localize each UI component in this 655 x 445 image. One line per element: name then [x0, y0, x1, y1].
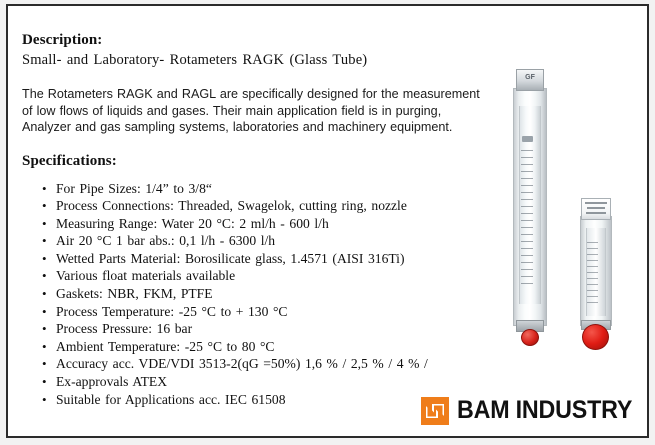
- list-item: •Wetted Parts Material: Borosilicate gla…: [56, 250, 492, 268]
- bullet-icon: •: [42, 197, 47, 215]
- brand-logo: BAM INDUSTRY: [421, 396, 645, 425]
- list-item-label: Process Pressure: 16 bar: [56, 321, 192, 336]
- list-item: •Gaskets: NBR, FKM, PTFE: [56, 285, 492, 303]
- text-column: Description: Small- and Laboratory- Rota…: [22, 32, 492, 408]
- bullet-icon: •: [42, 338, 47, 356]
- list-item-label: Various float materials available: [56, 268, 235, 283]
- bam-zigzag-icon: [421, 397, 449, 425]
- intro-line-3: Analyzer and gas sampling systems, labor…: [22, 119, 492, 136]
- rotameter-large-float: [522, 136, 533, 142]
- nameplate-line: [587, 207, 605, 209]
- list-item-label: Ambient Temperature: -25 °C to 80 °C: [56, 339, 274, 354]
- bullet-icon: •: [42, 355, 47, 373]
- list-item: •Ambient Temperature: -25 °C to 80 °C: [56, 338, 492, 356]
- nameplate-line: [586, 212, 606, 214]
- description-heading: Description:: [22, 32, 492, 49]
- list-item-label: Suitable for Applications acc. IEC 61508: [56, 392, 286, 407]
- list-item: •Process Connections: Threaded, Swagelok…: [56, 197, 492, 215]
- rotameter-small-scale: [587, 242, 598, 304]
- rotameter-large-top-cap: GF: [516, 69, 544, 91]
- list-item: •Ex-approvals ATEX: [56, 373, 492, 391]
- bullet-icon: •: [42, 250, 47, 268]
- list-item: •For Pipe Sizes: 1/4” to 3/8“: [56, 180, 492, 198]
- rotameter-large-image: GF: [503, 68, 559, 350]
- nameplate-line: [585, 202, 607, 204]
- list-item: •Air 20 °C 1 bar abs.: 0,1 l/h - 6300 l/…: [56, 232, 492, 250]
- rotameter-large-red-valve-knob: [521, 329, 539, 346]
- intro-line-1: The Rotameters RAGK and RAGL are specifi…: [22, 86, 492, 103]
- specifications-heading: Specifications:: [22, 153, 492, 170]
- product-subtitle: Small- and Laboratory- Rotameters RAGK (…: [22, 52, 492, 69]
- bullet-icon: •: [42, 180, 47, 198]
- bullet-icon: •: [42, 320, 47, 338]
- bullet-icon: •: [42, 215, 47, 233]
- list-item-label: Wetted Parts Material: Borosilicate glas…: [56, 251, 405, 266]
- rotameter-large-scale: [521, 150, 533, 290]
- list-item: •Process Temperature: -25 °C to + 130 °C: [56, 303, 492, 321]
- specifications-list: •For Pipe Sizes: 1/4” to 3/8“ •Process C…: [22, 180, 492, 409]
- list-item-label: Gaskets: NBR, FKM, PTFE: [56, 286, 213, 301]
- rotameter-large-cap-text: GF: [517, 74, 543, 81]
- document-sheet: Description: Small- and Laboratory- Rota…: [6, 4, 649, 438]
- list-item: •Process Pressure: 16 bar: [56, 320, 492, 338]
- intro-paragraph: The Rotameters RAGK and RAGL are specifi…: [22, 86, 492, 136]
- intro-line-2: of low flows of liquids and gases. Their…: [22, 103, 492, 120]
- bullet-icon: •: [42, 232, 47, 250]
- bullet-icon: •: [42, 391, 47, 409]
- list-item-label: Accuracy acc. VDE/VDI 3513-2(qG =50%) 1,…: [56, 356, 428, 371]
- page-background: Description: Small- and Laboratory- Rota…: [0, 0, 655, 445]
- bullet-icon: •: [42, 303, 47, 321]
- bullet-icon: •: [42, 267, 47, 285]
- bullet-icon: •: [42, 373, 47, 391]
- list-item-label: Process Temperature: -25 °C to + 130 °C: [56, 304, 288, 319]
- brand-name: BAM INDUSTRY: [457, 396, 632, 425]
- list-item: •Accuracy acc. VDE/VDI 3513-2(qG =50%) 1…: [56, 355, 492, 373]
- list-item: •Various float materials available: [56, 267, 492, 285]
- bullet-icon: •: [42, 285, 47, 303]
- list-item-label: For Pipe Sizes: 1/4” to 3/8“: [56, 181, 212, 196]
- rotameter-small-nameplate: [581, 198, 611, 220]
- list-item: •Measuring Range: Water 20 °C: 2 ml/h - …: [56, 215, 492, 233]
- list-item-label: Ex-approvals ATEX: [56, 374, 167, 389]
- rotameter-small-red-valve-knob: [582, 324, 609, 350]
- list-item-label: Measuring Range: Water 20 °C: 2 ml/h - 6…: [56, 216, 329, 231]
- list-item-label: Process Connections: Threaded, Swagelok,…: [56, 198, 407, 213]
- list-item-label: Air 20 °C 1 bar abs.: 0,1 l/h - 6300 l/h: [56, 233, 275, 248]
- rotameter-small-image: [571, 198, 623, 350]
